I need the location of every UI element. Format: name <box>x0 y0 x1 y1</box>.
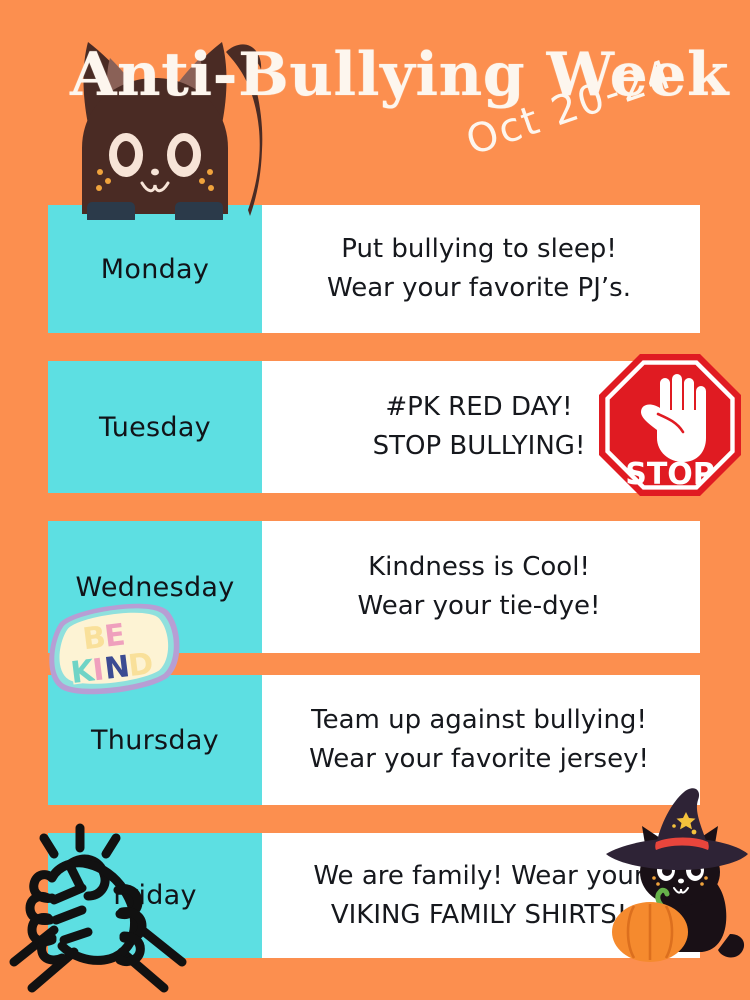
poster-header: Anti-Bullying Week Oct 20-24 <box>0 0 750 205</box>
cat-freckle <box>207 169 213 175</box>
cat-freckle <box>97 169 103 175</box>
day-label-box: Tuesday <box>48 361 262 493</box>
anti-bullying-week-poster: Anti-Bullying Week Oct 20-24 Monday Put … <box>0 0 750 1000</box>
cat-freckle <box>105 178 111 184</box>
witch-cat-nose <box>678 879 684 884</box>
day-name: Tuesday <box>99 412 211 443</box>
day-name: Thursday <box>91 725 219 756</box>
sticker-letter-d: D <box>126 646 155 684</box>
day-name: Monday <box>101 254 209 285</box>
knuckle-line <box>70 866 80 886</box>
message-box: Put bullying to sleep! Wear your favorit… <box>262 205 700 333</box>
witch-cat-icon <box>598 788 750 970</box>
day-label-box: Monday <box>48 205 262 333</box>
knuckle-line <box>56 910 82 920</box>
message-line: We are family! Wear your <box>313 857 644 896</box>
message-line: Team up against bullying! <box>311 701 647 740</box>
cat-freckle <box>199 178 205 184</box>
cat-paw-right <box>175 202 223 220</box>
cat-paw-left <box>87 202 135 220</box>
message-line: Kindness is Cool! <box>368 548 590 587</box>
stop-sign-label: STOP <box>625 457 715 492</box>
witch-hat-star-small <box>692 830 697 835</box>
message-box: Team up against bullying! Wear your favo… <box>262 675 700 805</box>
cat-freckle <box>208 185 214 191</box>
message-line: Put bullying to sleep! <box>341 230 617 269</box>
spark-line <box>44 838 54 854</box>
knuckle-line <box>64 932 88 940</box>
message-box: Kindness is Cool! Wear your tie-dye! <box>262 521 700 653</box>
message-line: Wear your tie-dye! <box>358 587 601 626</box>
spark-line <box>106 838 116 854</box>
cat-nose <box>151 169 159 176</box>
message-line: #PK RED DAY! <box>385 388 572 427</box>
be-kind-sticker-icon: B E K I N D <box>32 598 192 696</box>
forearm-right <box>142 930 182 962</box>
cat-pupil-left <box>117 141 135 167</box>
witch-cat-freckle <box>652 876 656 880</box>
message-line: STOP BULLYING! <box>373 427 586 466</box>
message-line: VIKING FAMILY SHIRTS! <box>331 896 627 935</box>
witch-cat-freckle <box>656 882 660 886</box>
schedule-row-monday: Monday Put bullying to sleep! Wear your … <box>48 205 700 333</box>
witch-cat-freckle <box>704 876 708 880</box>
witch-cat-freckle <box>700 882 704 886</box>
cat-pupil-right <box>175 141 193 167</box>
message-line: Wear your favorite PJ’s. <box>327 269 631 308</box>
cat-freckle <box>96 185 102 191</box>
witch-hat-star-small <box>672 824 676 828</box>
clasped-hands-icon <box>8 812 188 994</box>
message-line: Wear your favorite jersey! <box>309 740 649 779</box>
stop-sign-icon: STOP <box>597 352 743 498</box>
